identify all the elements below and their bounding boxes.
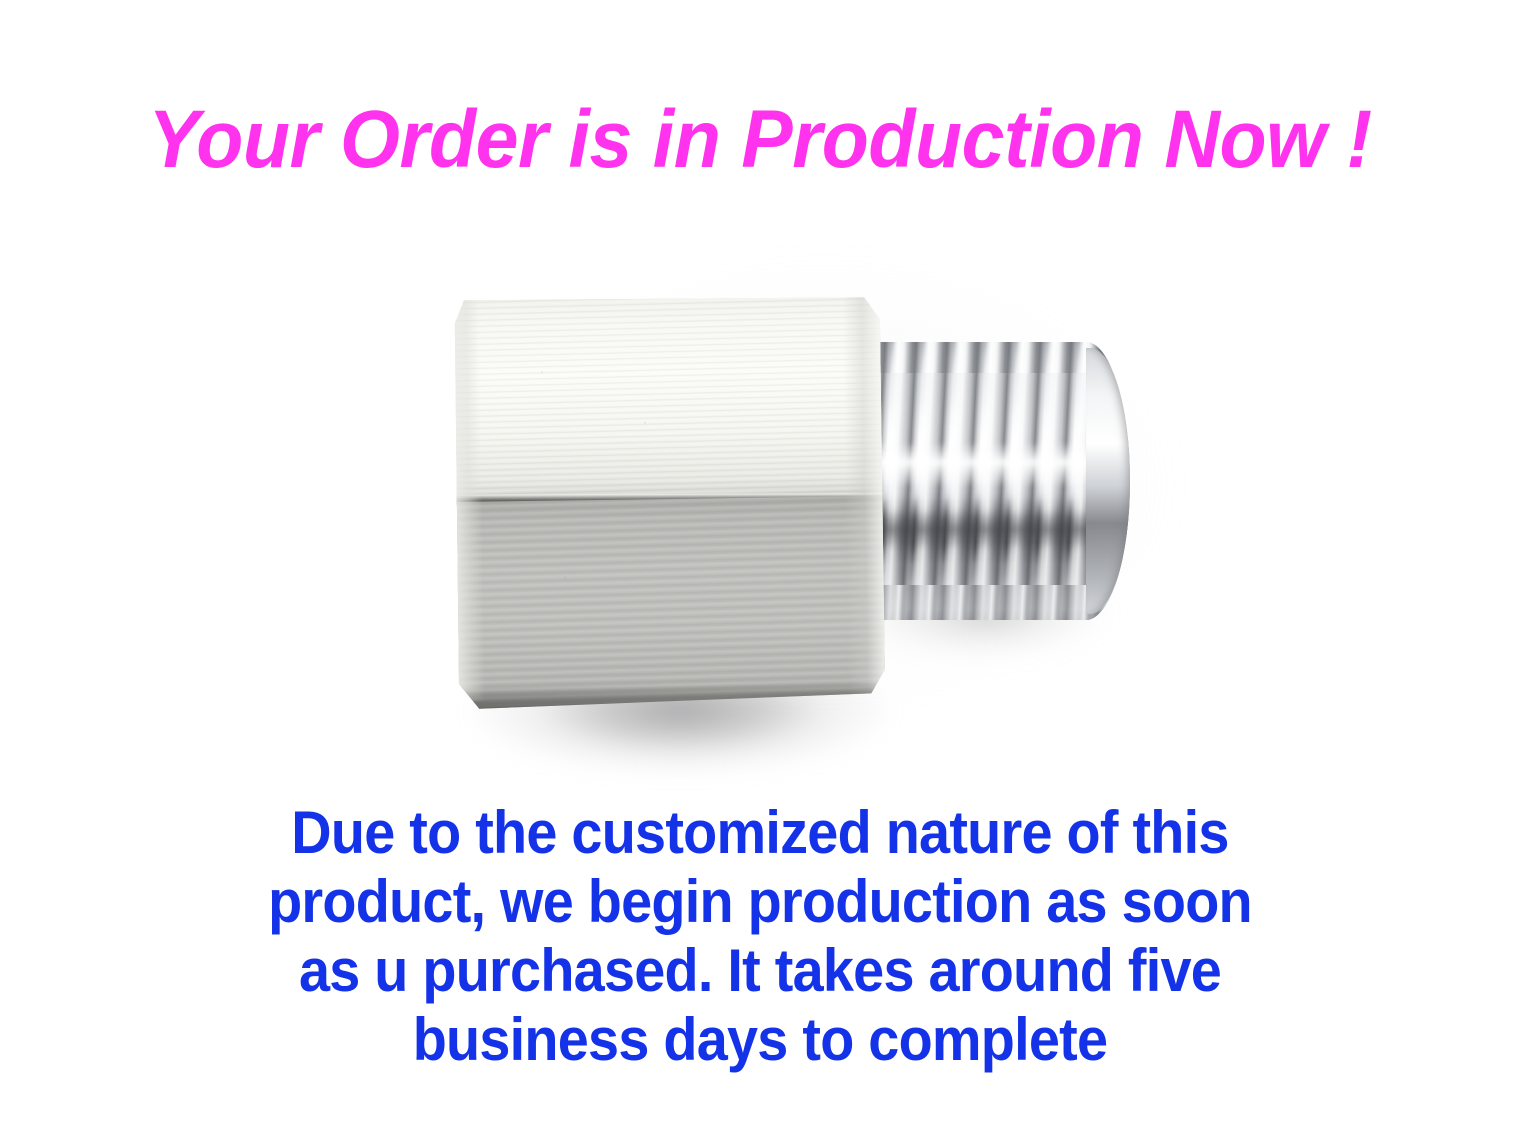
surface-scuffs (449, 272, 887, 710)
notice-line: product, we begin production as soon (53, 867, 1467, 936)
hexagonal-coupling-body (449, 272, 887, 710)
page-title: Your Order is in Production Now ! (46, 96, 1475, 184)
notice-line: business days to complete (53, 1005, 1467, 1074)
product-photo (0, 230, 1520, 790)
thread-shadow-band (872, 509, 1113, 551)
notice-line: Due to the customized nature of this (53, 798, 1467, 867)
production-notice: Due to the customized nature of this pro… (53, 798, 1467, 1074)
thread-specular-highlight (866, 442, 1123, 486)
promo-image: Your Order is in Production Now ! (0, 0, 1520, 1140)
notice-line: as u purchased. It takes around five (53, 936, 1467, 1005)
